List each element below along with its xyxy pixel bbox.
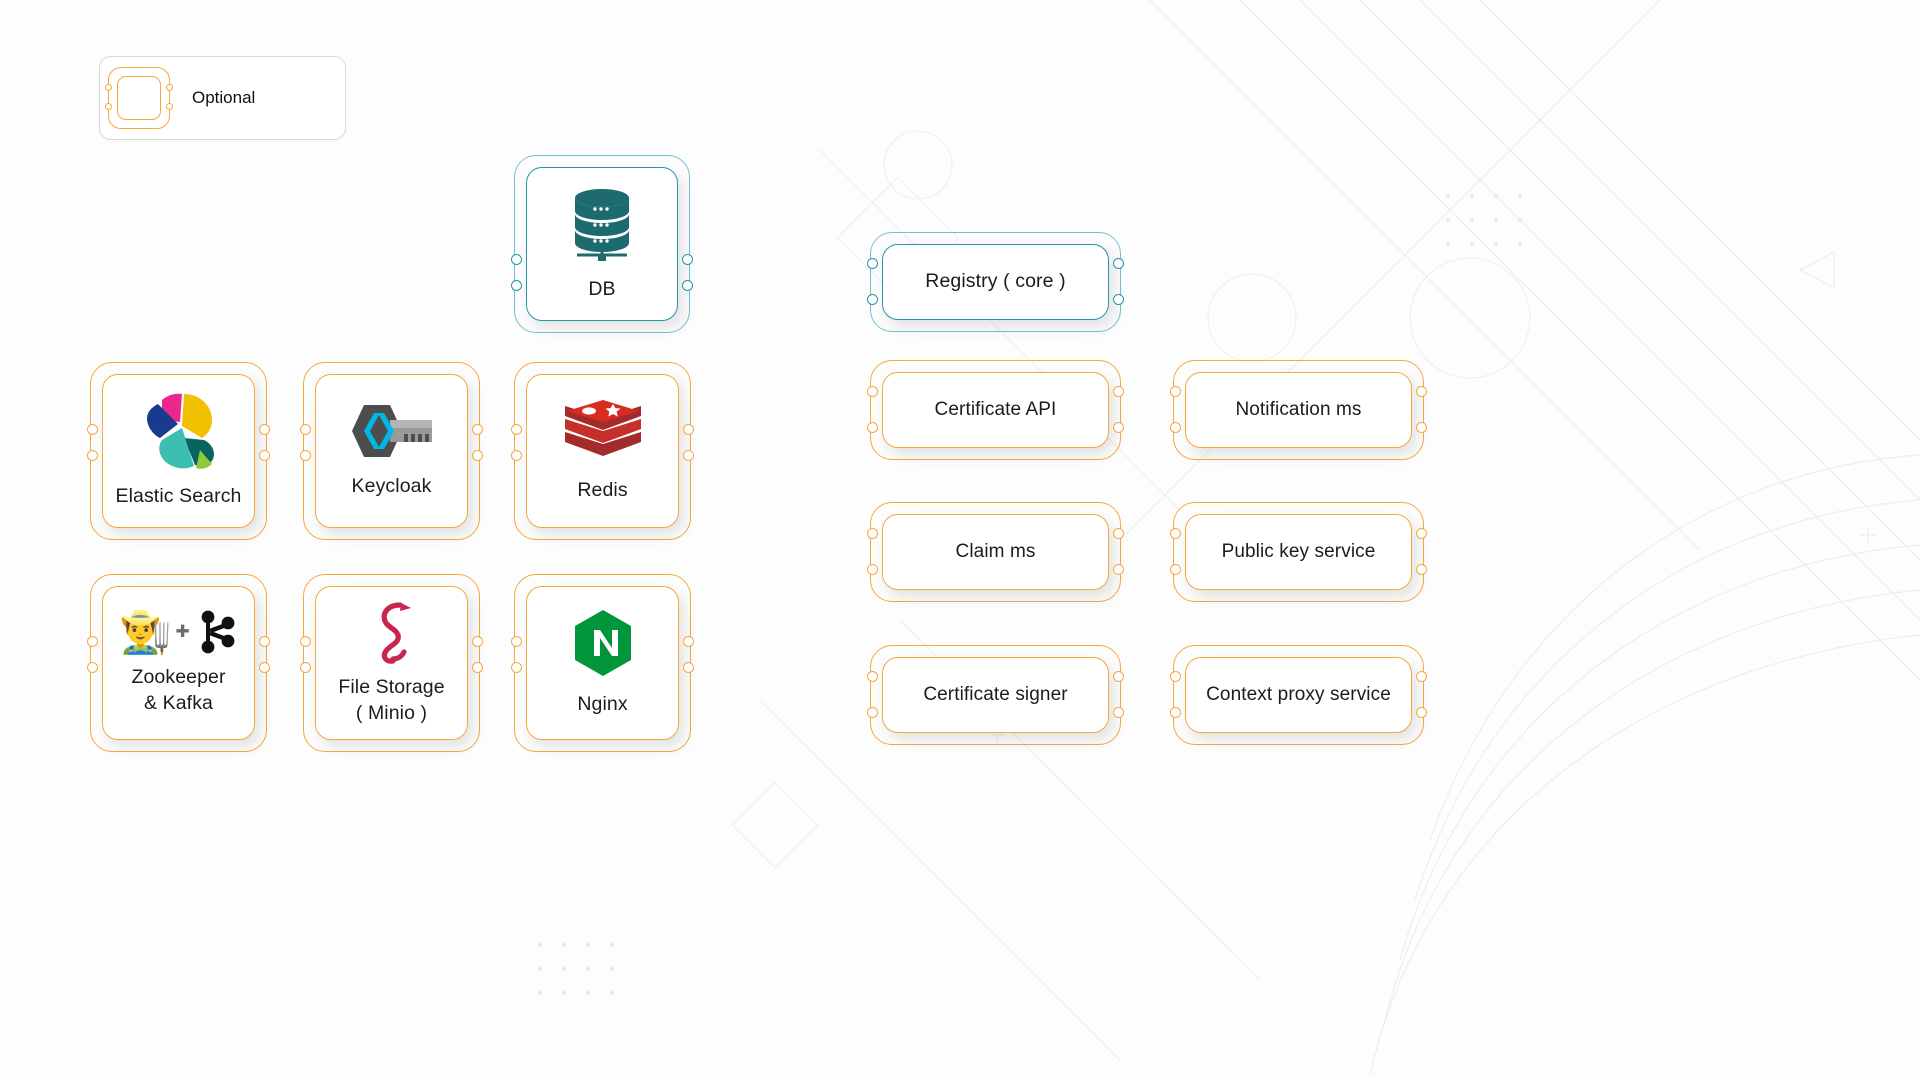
- node-zookeeper-kafka-label-line2: & Kafka: [131, 691, 225, 717]
- node-zookeeper-kafka[interactable]: 👨‍🌾 ✚ Zookeeper & Kafka: [90, 574, 267, 752]
- minio-flamingo-logo-icon: [366, 599, 418, 665]
- node-keycloak[interactable]: Keycloak: [303, 362, 480, 540]
- node-redis[interactable]: Redis: [514, 362, 691, 540]
- node-elastic-search[interactable]: Elastic Search: [90, 362, 267, 540]
- kafka-logo-icon: [194, 609, 238, 655]
- elasticsearch-logo-icon: [138, 392, 220, 470]
- node-registry-core[interactable]: Registry ( core ): [870, 232, 1121, 332]
- node-claim-ms[interactable]: Claim ms: [870, 502, 1121, 602]
- nginx-logo-icon: [572, 608, 634, 678]
- redis-stack-logo-icon: [561, 398, 645, 464]
- node-public-key-service-label: Public key service: [1222, 539, 1376, 564]
- node-file-storage-label-line1: File Storage: [338, 675, 444, 701]
- node-registry-core-label: Registry ( core ): [925, 269, 1065, 295]
- legend-label: Optional: [192, 88, 255, 108]
- plus-sign: ✚: [176, 622, 190, 642]
- node-keycloak-label: Keycloak: [352, 474, 432, 500]
- node-database-label: DB: [588, 277, 615, 303]
- node-nginx-label: Nginx: [577, 692, 627, 718]
- node-zookeeper-kafka-label-line1: Zookeeper: [131, 665, 225, 691]
- node-nginx[interactable]: Nginx: [514, 574, 691, 752]
- node-certificate-signer-label: Certificate signer: [923, 682, 1067, 707]
- node-certificate-signer[interactable]: Certificate signer: [870, 645, 1121, 745]
- node-context-proxy-service-label: Context proxy service: [1206, 682, 1391, 707]
- zookeeper-emoji-icon: 👨‍🌾: [119, 611, 171, 653]
- legend-optional: Optional: [99, 56, 346, 140]
- node-context-proxy-service[interactable]: Context proxy service: [1173, 645, 1424, 745]
- node-file-storage-minio[interactable]: File Storage ( Minio ): [303, 574, 480, 752]
- node-elastic-search-label: Elastic Search: [115, 484, 241, 510]
- keycloak-key-logo-icon: [348, 402, 436, 460]
- architecture-diagram-canvas: Optional: [0, 0, 1920, 1080]
- node-database[interactable]: DB: [514, 155, 690, 333]
- node-notification-ms[interactable]: Notification ms: [1173, 360, 1424, 460]
- zookeeper-kafka-logo-icon: 👨‍🌾 ✚: [119, 609, 238, 655]
- node-redis-label: Redis: [577, 478, 627, 504]
- node-claim-ms-label: Claim ms: [956, 539, 1036, 564]
- node-certificate-api[interactable]: Certificate API: [870, 360, 1121, 460]
- node-notification-ms-label: Notification ms: [1235, 397, 1361, 422]
- node-certificate-api-label: Certificate API: [935, 397, 1057, 422]
- optional-node-swatch: [108, 67, 170, 129]
- database-cylinder-icon: [565, 185, 639, 263]
- node-public-key-service[interactable]: Public key service: [1173, 502, 1424, 602]
- node-file-storage-label-line2: ( Minio ): [338, 701, 444, 727]
